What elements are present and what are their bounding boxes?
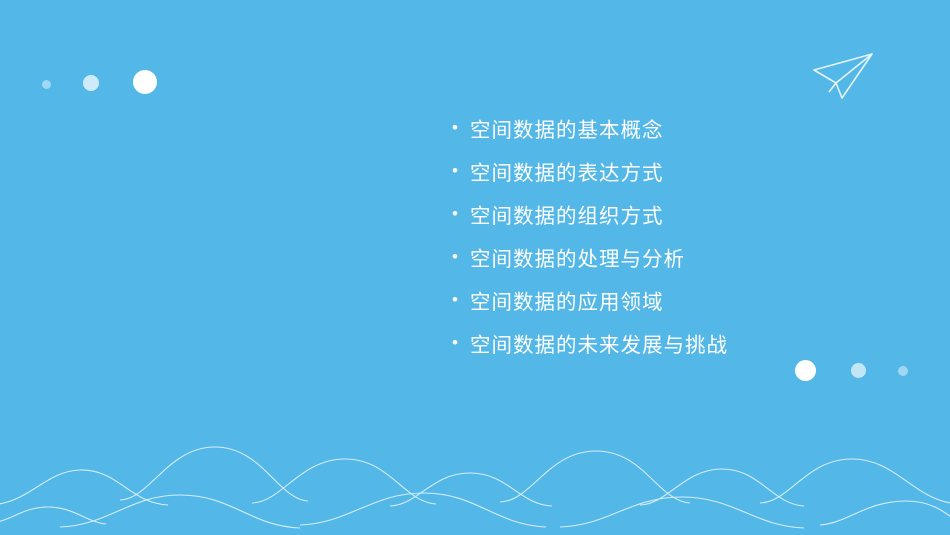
- bullet-text: 空间数据的应用领域: [470, 285, 664, 315]
- slide-canvas: • 空间数据的基本概念 • 空间数据的表达方式 • 空间数据的组织方式 • 空间…: [0, 0, 950, 535]
- bullet-marker-icon: •: [452, 248, 470, 265]
- list-item: • 空间数据的表达方式: [452, 149, 728, 192]
- list-item: • 空间数据的未来发展与挑战: [452, 321, 728, 364]
- bullet-text: 空间数据的处理与分析: [470, 242, 685, 272]
- list-item: • 空间数据的基本概念: [452, 106, 728, 149]
- decor-dot-medium-left: [83, 75, 99, 91]
- paper-plane-icon: [812, 52, 874, 100]
- bullet-marker-icon: •: [452, 162, 470, 179]
- bullet-marker-icon: •: [452, 205, 470, 222]
- bullet-marker-icon: •: [452, 291, 470, 308]
- list-item: • 空间数据的处理与分析: [452, 235, 728, 278]
- bullet-text: 空间数据的未来发展与挑战: [470, 328, 728, 358]
- bullet-text: 空间数据的表达方式: [470, 156, 664, 186]
- bullet-text: 空间数据的组织方式: [470, 199, 664, 229]
- list-item: • 空间数据的应用领域: [452, 278, 728, 321]
- bullet-text: 空间数据的基本概念: [470, 113, 664, 143]
- decor-dot-small-left: [42, 80, 51, 89]
- cloud-line-art: [0, 375, 950, 535]
- decor-dot-large-left: [133, 70, 157, 94]
- bullet-marker-icon: •: [452, 119, 470, 136]
- bullet-list: • 空间数据的基本概念 • 空间数据的表达方式 • 空间数据的组织方式 • 空间…: [452, 106, 728, 364]
- bullet-marker-icon: •: [452, 334, 470, 351]
- list-item: • 空间数据的组织方式: [452, 192, 728, 235]
